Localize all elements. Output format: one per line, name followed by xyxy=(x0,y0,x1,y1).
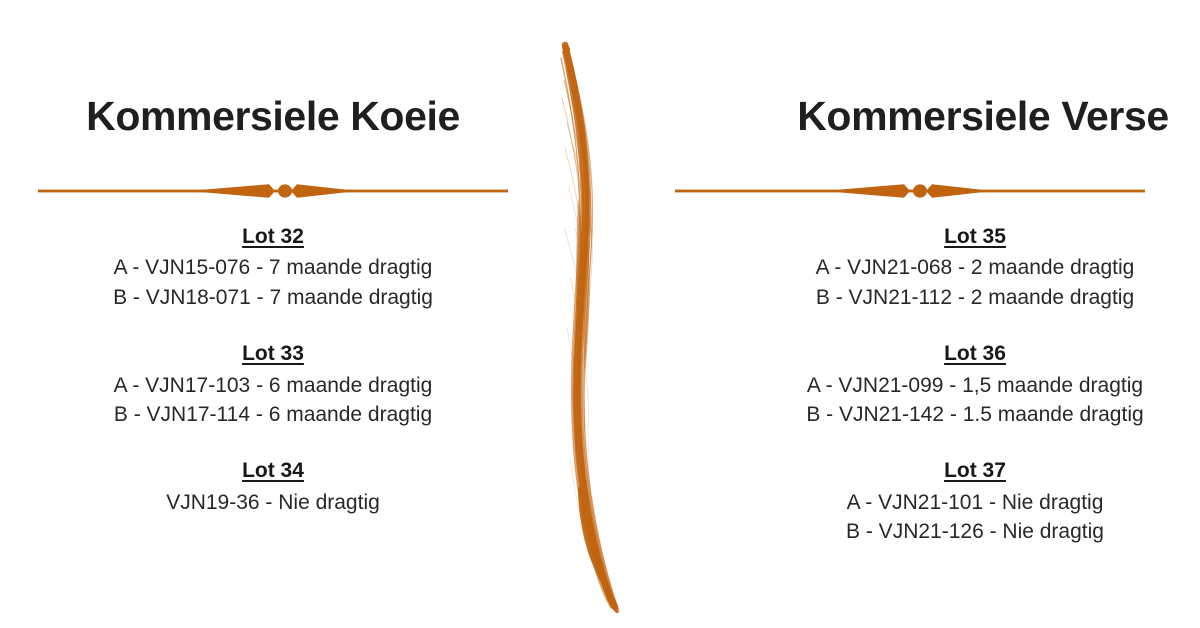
lot-line: A - VJN21-068 - 2 maande dragtig xyxy=(702,253,1200,283)
lot-line: VJN19-36 - Nie dragtig xyxy=(0,488,546,518)
column-heading-left: Kommersiele Koeie xyxy=(0,94,618,139)
divider-ornament-right xyxy=(675,181,1145,201)
lot-line: A - VJN21-101 - Nie dragtig xyxy=(702,488,1200,518)
lot-line: B - VJN21-112 - 2 maande dragtig xyxy=(702,283,1200,313)
lot-block: Lot 36 A - VJN21-099 - 1,5 maande dragti… xyxy=(702,339,1200,430)
column-kommersiele-koeie: Kommersiele Koeie Lot 32 A - VJN15-076 -… xyxy=(0,0,546,628)
lot-block: Lot 35 A - VJN21-068 - 2 maande dragtig … xyxy=(702,222,1200,313)
lot-title: Lot 34 xyxy=(0,456,546,486)
lot-block: Lot 37 A - VJN21-101 - Nie dragtig B - V… xyxy=(702,456,1200,547)
lot-title: Lot 33 xyxy=(0,339,546,369)
lot-title: Lot 36 xyxy=(702,339,1200,369)
lot-block: Lot 32 A - VJN15-076 - 7 maande dragtig … xyxy=(0,222,546,313)
lot-line: B - VJN21-126 - Nie dragtig xyxy=(702,517,1200,547)
lot-line: B - VJN17-114 - 6 maande dragtig xyxy=(0,400,546,430)
lot-line: B - VJN21-142 - 1.5 maande dragtig xyxy=(702,400,1200,430)
divider-ornament-left xyxy=(38,181,508,201)
lot-title: Lot 37 xyxy=(702,456,1200,486)
poster-canvas: Kommersiele Koeie Lot 32 A - VJN15-076 -… xyxy=(0,0,1200,628)
lot-line: B - VJN18-071 - 7 maande dragtig xyxy=(0,283,546,313)
lot-list-left: Lot 32 A - VJN15-076 - 7 maande dragtig … xyxy=(0,222,606,517)
lot-line: A - VJN17-103 - 6 maande dragtig xyxy=(0,371,546,401)
lot-block: Lot 34 VJN19-36 - Nie dragtig xyxy=(0,456,546,517)
lot-title: Lot 32 xyxy=(0,222,546,252)
lot-line: A - VJN21-099 - 1,5 maande dragtig xyxy=(702,371,1200,401)
lot-line: A - VJN15-076 - 7 maande dragtig xyxy=(0,253,546,283)
lot-block: Lot 33 A - VJN17-103 - 6 maande dragtig … xyxy=(0,339,546,430)
column-heading-right: Kommersiele Verse xyxy=(654,94,1200,139)
lot-list-right: Lot 35 A - VJN21-068 - 2 maande dragtig … xyxy=(654,222,1200,547)
column-kommersiele-verse: Kommersiele Verse Lot 35 A - VJN21-068 -… xyxy=(654,0,1200,628)
lot-title: Lot 35 xyxy=(702,222,1200,252)
